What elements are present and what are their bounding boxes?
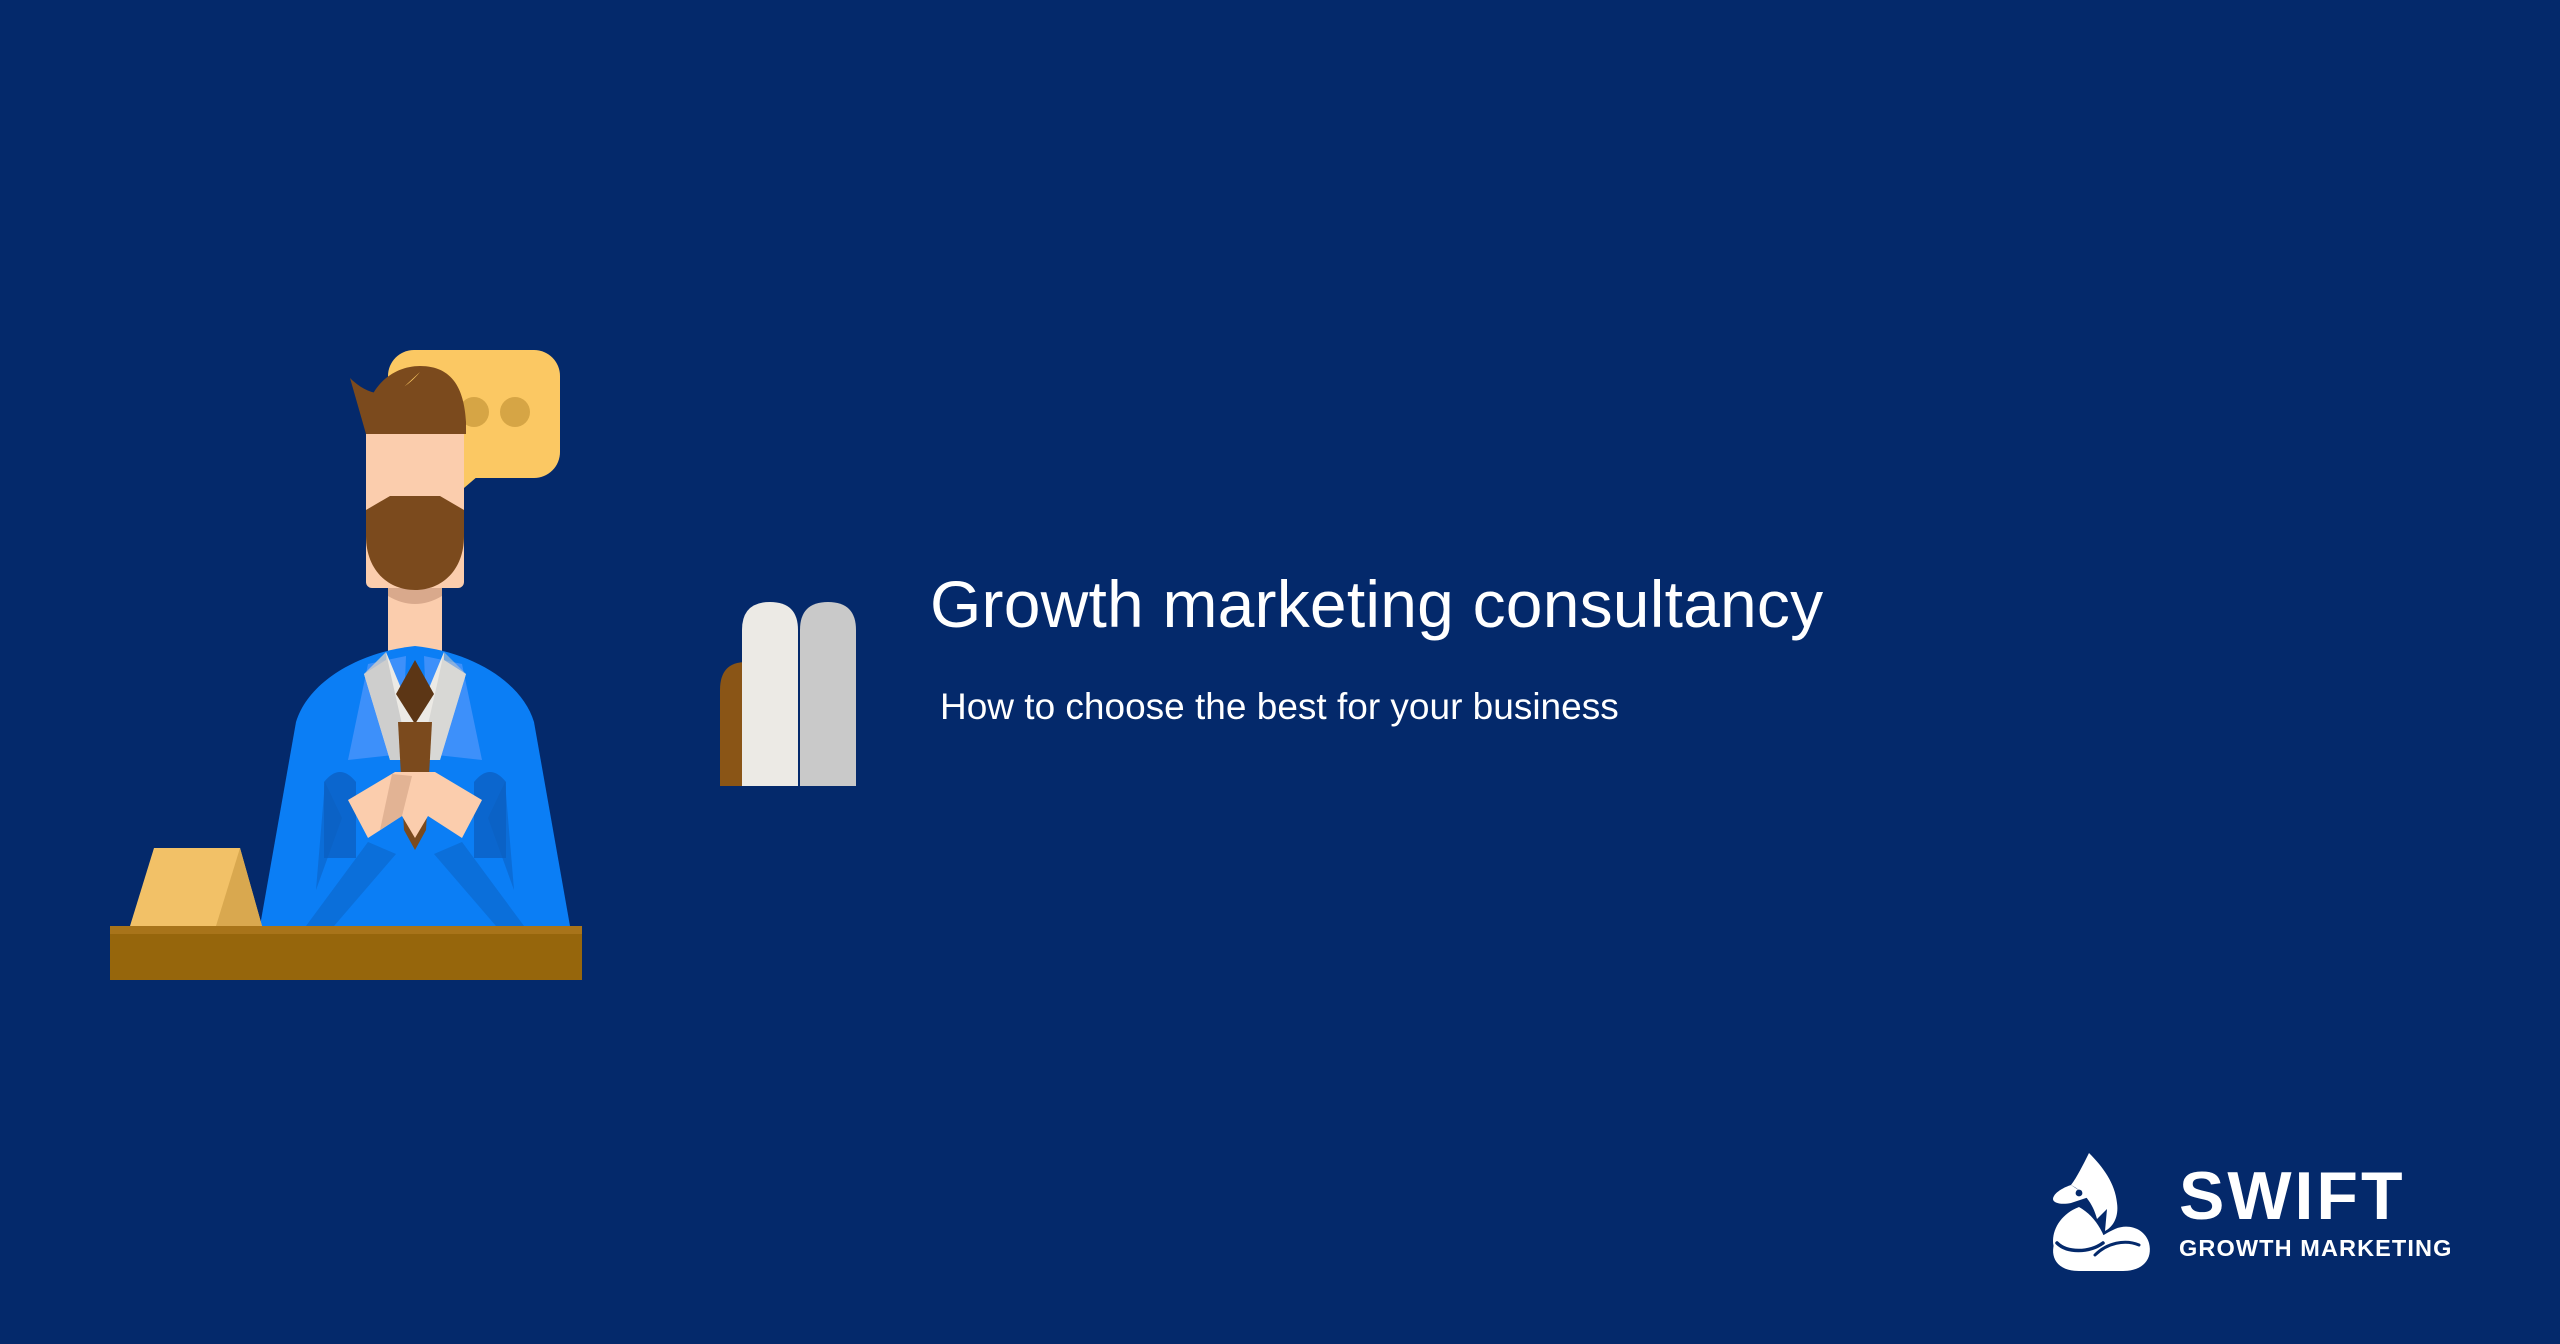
desk-nameplate [130, 848, 262, 926]
logo-wordmark: SWIFT [2179, 1164, 2452, 1229]
fox-logo-icon [2045, 1145, 2157, 1275]
hero-text-block: Growth marketing consultancy How to choo… [930, 570, 2380, 730]
desk-surface [110, 926, 582, 980]
logo-tagline: GROWTH MARKETING [2179, 1237, 2452, 1261]
hero-banner: Growth marketing consultancy How to choo… [0, 0, 2560, 1344]
books-stack [720, 602, 856, 786]
page-title: Growth marketing consultancy [930, 570, 2380, 639]
consultant-illustration [110, 330, 900, 1020]
page-subtitle: How to choose the best for your business [940, 685, 2380, 729]
brand-logo[interactable]: SWIFT GROWTH MARKETING [2045, 1135, 2475, 1285]
logo-text-group: SWIFT GROWTH MARKETING [2179, 1160, 2452, 1260]
